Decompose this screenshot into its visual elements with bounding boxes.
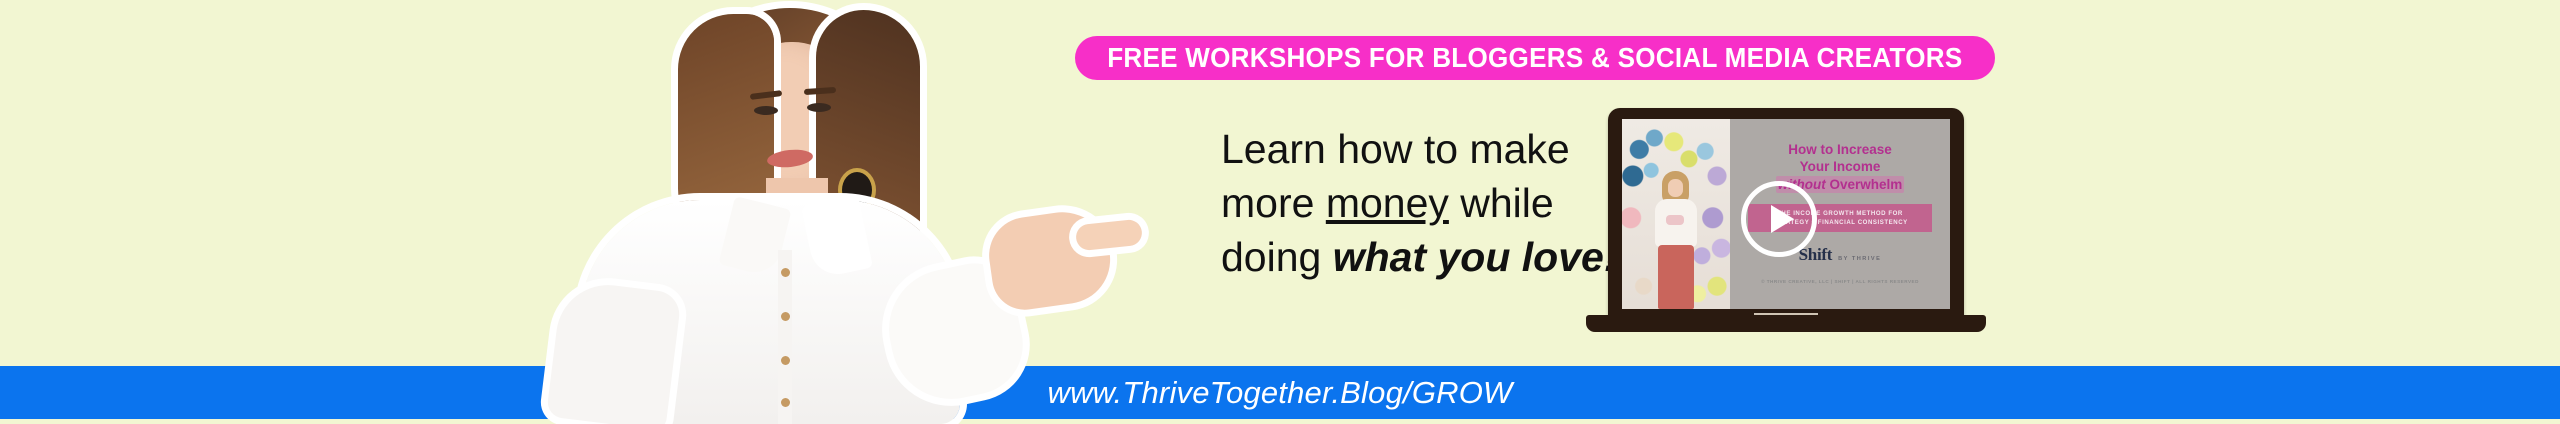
pointing-finger (1075, 219, 1143, 252)
laptop-lid: How to Increase Your Income without Over… (1608, 108, 1964, 320)
url-bar[interactable]: www.ThriveTogether.Blog/GROW (0, 366, 2560, 419)
slide-photo-person (1652, 171, 1700, 309)
laptop-screen: How to Increase Your Income without Over… (1622, 119, 1950, 309)
arm-left (546, 279, 682, 424)
eye-right (807, 103, 831, 112)
headline-line-3-pre: doing (1221, 234, 1333, 280)
slide-person-shirt-graphic (1666, 215, 1684, 225)
hero-photo-woman (520, 0, 1220, 424)
headline-italic-phrase: what you love! (1333, 234, 1618, 280)
slide-photo-balloons (1622, 119, 1730, 309)
slide-title-line-1: How to Increase (1740, 141, 1940, 158)
laptop-video-player[interactable]: How to Increase Your Income without Over… (1586, 108, 1986, 343)
headline-emphasis-money: money (1326, 180, 1449, 226)
shirt-button (781, 312, 790, 321)
slide-logo-mark: Shift (1799, 245, 1832, 265)
headline-line-2: more money while (1221, 176, 1641, 230)
play-triangle-icon (1771, 205, 1794, 233)
shirt-button (781, 398, 790, 407)
headline: Learn how to make more money while doing… (1221, 122, 1641, 284)
slide-person-face (1668, 179, 1683, 197)
promo-pill-label: FREE WORKSHOPS FOR BLOGGERS & SOCIAL MED… (1107, 42, 1962, 74)
laptop-base (1586, 315, 1986, 332)
headline-line-3: doing what you love! (1221, 230, 1641, 284)
headline-line-2-post: while (1449, 180, 1554, 226)
shirt-button (781, 268, 790, 277)
promo-banner: FREE WORKSHOPS FOR BLOGGERS & SOCIAL MED… (0, 0, 2560, 424)
slide-title-line-3-rest: Overwhelm (1826, 177, 1903, 192)
headline-line-2-pre: more (1221, 180, 1326, 226)
shirt-button (781, 356, 790, 365)
eye-left (754, 106, 778, 115)
slide-copyright: © THRIVE CREATIVE, LLC | SHIFT | ALL RIG… (1730, 279, 1950, 284)
headline-line-1: Learn how to make (1221, 122, 1641, 176)
slide-person-skirt (1658, 245, 1694, 309)
play-button[interactable] (1741, 181, 1817, 257)
slide-logo-byline: BY THRIVE (1838, 256, 1881, 262)
slide-title-line-2: Your Income (1740, 158, 1940, 175)
